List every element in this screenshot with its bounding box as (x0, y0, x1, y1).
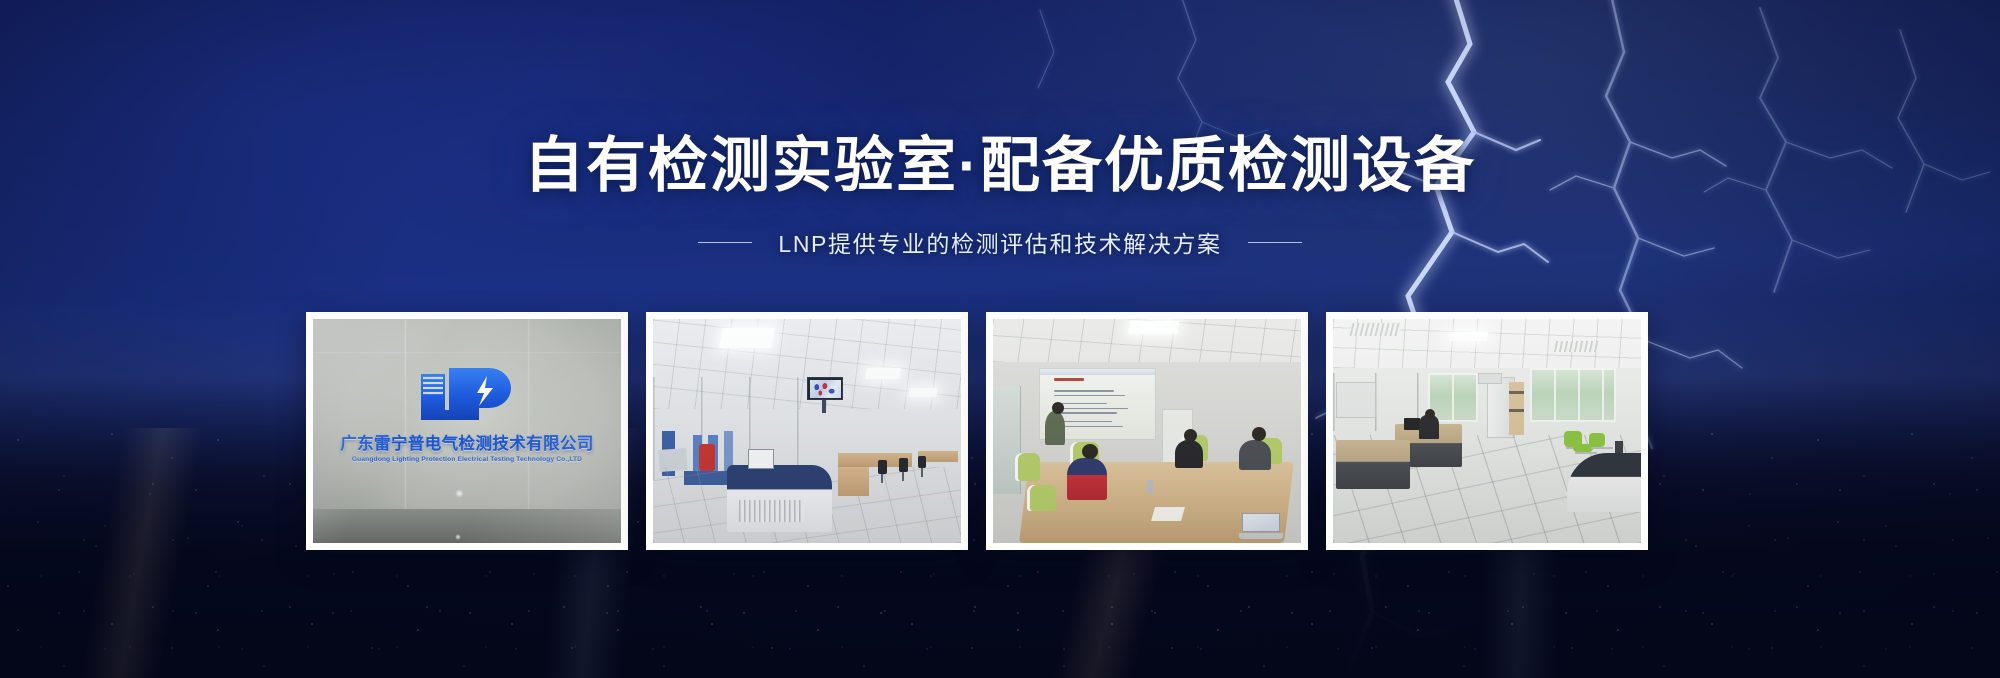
photo-gallery: 广东雷宁普电气检测技术有限公司 Guangdong Lighting Prote… (306, 312, 1648, 550)
gallery-card-office[interactable] (1326, 312, 1648, 550)
meeting-chair-5 (1030, 485, 1056, 511)
banner-subtitle-row: LNP提供专业的检测评估和技术解决方案 (0, 225, 2000, 259)
rule-left-icon (698, 242, 752, 243)
laptop-base (1239, 533, 1283, 539)
banner-stage: 自有检测实验室·配备优质检测设备 LNP提供专业的检测评估和技术解决方案 (0, 0, 2000, 678)
ceiling-light-3 (908, 388, 937, 397)
photo-office (1333, 319, 1641, 543)
laptop-icon (1239, 513, 1283, 539)
counter-item (1615, 441, 1623, 453)
attendee-grey-head (1252, 427, 1266, 441)
photo-laboratory (653, 319, 961, 543)
office-window-2 (1530, 368, 1616, 422)
wall-ac-unit (1478, 373, 1503, 384)
ceiling-light-1 (719, 328, 776, 348)
ceiling-light-2 (865, 368, 901, 379)
office-window-1 (1428, 373, 1477, 422)
office-worker-head (1425, 409, 1435, 419)
laptop-screen (1242, 513, 1280, 532)
gallery-card-laboratory[interactable] (646, 312, 968, 550)
gallery-card-company-sign[interactable]: 广东雷宁普电气检测技术有限公司 Guangdong Lighting Prote… (306, 312, 628, 550)
papers-on-table (1151, 507, 1185, 521)
monitor-mount (822, 400, 826, 413)
shelf-item-1 (1509, 391, 1524, 394)
office-ceiling-light (1449, 332, 1488, 341)
photo-company-sign: 广东雷宁普电气检测技术有限公司 Guangdong Lighting Prote… (313, 319, 621, 543)
meeting-door-glass (993, 386, 1021, 494)
shelf-item-2 (1509, 409, 1524, 412)
glass-sheen (313, 319, 621, 543)
meeting-ceiling-light (1127, 321, 1179, 334)
attendee-black-head (1184, 429, 1197, 442)
lab-window-unit (1336, 382, 1376, 418)
presenter-head (1052, 402, 1064, 414)
attendee-red-body (1067, 458, 1107, 500)
attendee-black-body (1175, 440, 1203, 468)
ceiling-vent-1 (1350, 323, 1403, 336)
rule-right-icon (1248, 242, 1302, 243)
lab-chair-1 (878, 460, 887, 474)
office-bench-cabinet (838, 467, 869, 496)
slide-line-2 (1054, 395, 1125, 396)
thermos-cup (1147, 480, 1153, 494)
attendee-grey-body (1239, 440, 1271, 470)
desk-monitor-icon (748, 449, 774, 469)
banner-subtitle: LNP提供专业的检测评估和技术解决方案 (778, 225, 1221, 259)
slide-toolbar (1040, 369, 1155, 375)
meeting-chair-4 (1018, 453, 1040, 481)
slide-line-5 (1054, 412, 1117, 413)
photo-meeting-room (993, 319, 1301, 543)
slide-line-1 (1054, 390, 1114, 391)
office-chair-2-back (1589, 433, 1605, 447)
wall-monitor-icon (807, 377, 843, 400)
desktop-monitor-icon (1404, 418, 1420, 430)
ceiling-vent-2 (1554, 341, 1599, 352)
lab-chair-2 (899, 458, 908, 472)
presenter-body (1045, 411, 1065, 445)
slide-title-line (1054, 378, 1084, 381)
lab-control-desk (727, 465, 832, 532)
slide-line-4 (1054, 408, 1128, 409)
lab-chair-3 (918, 456, 926, 468)
office-desk-2 (1336, 440, 1410, 489)
banner-headline: 自有检测实验室·配备优质检测设备 (0, 136, 2000, 196)
office-worker-body (1419, 415, 1439, 439)
gallery-card-meeting-room[interactable] (986, 312, 1308, 550)
